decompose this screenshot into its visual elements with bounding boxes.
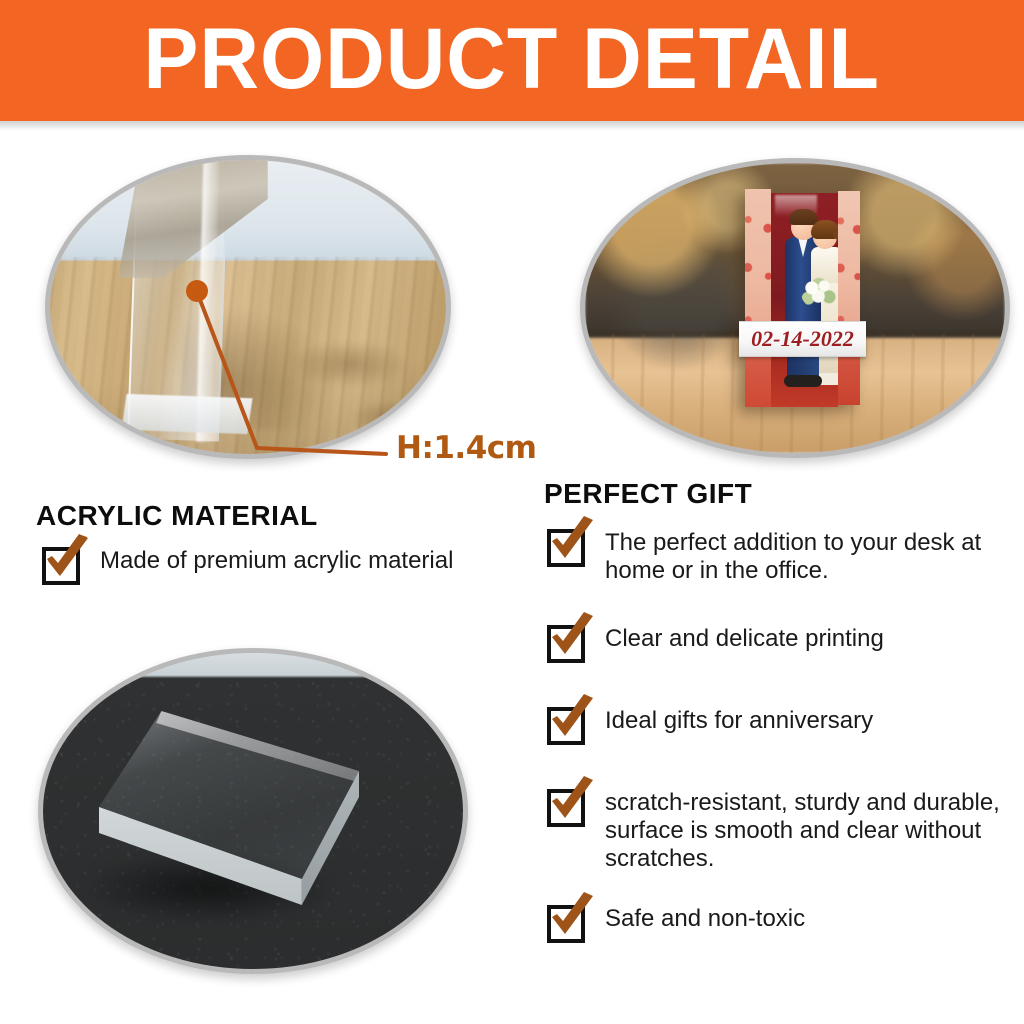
photo-acrylic-thickness-content xyxy=(50,160,446,454)
callout-dimension-label: H:1.4cm xyxy=(396,430,536,466)
groom-hair xyxy=(789,209,818,225)
check-mark-icon xyxy=(544,892,602,942)
checkbox-checked-icon xyxy=(42,547,80,585)
checkbox-checked-icon xyxy=(547,529,585,567)
check-mark-icon xyxy=(544,516,602,566)
photo-perfect-gift-content: 02-14-2022 xyxy=(585,163,1005,453)
list-item-label: Safe and non-toxic xyxy=(605,903,805,933)
callout-dot-icon xyxy=(186,280,208,302)
acrylic-block-base xyxy=(122,394,253,434)
gift-box-date-banner: 02-14-2022 xyxy=(739,321,866,357)
page-header-band: PRODUCT DETAIL xyxy=(0,0,1024,121)
list-item-label: Clear and delicate printing xyxy=(605,623,884,653)
photo-perfect-gift: 02-14-2022 xyxy=(580,158,1010,458)
header-drop-shadow xyxy=(0,121,1024,131)
photo-acrylic-thickness xyxy=(45,155,451,459)
gift-box: 02-14-2022 xyxy=(745,189,860,407)
gift-box-right-panel xyxy=(838,191,860,405)
heart-pattern-icon xyxy=(838,191,860,405)
list-item: The perfect addition to your desk at hom… xyxy=(547,527,1015,585)
checkbox-checked-icon xyxy=(547,707,585,745)
wedding-bouquet xyxy=(801,277,837,309)
section-heading-acrylic-material: ACRYLIC MATERIAL xyxy=(36,500,318,532)
list-item-label: Ideal gifts for anniversary xyxy=(605,705,873,735)
gift-box-date-text: 02-14-2022 xyxy=(751,326,854,352)
check-mark-icon xyxy=(544,612,602,662)
list-item-label: scratch-resistant, sturdy and durable, s… xyxy=(605,787,1015,872)
check-mark-icon xyxy=(39,534,97,584)
list-item: Clear and delicate printing xyxy=(547,623,884,663)
groom-shoes xyxy=(784,375,822,387)
list-item: scratch-resistant, sturdy and durable, s… xyxy=(547,787,1015,872)
checkbox-checked-icon xyxy=(547,905,585,943)
check-mark-icon xyxy=(544,694,602,744)
checkbox-checked-icon xyxy=(547,789,585,827)
photo-acrylic-block-content xyxy=(43,653,463,969)
page-title: PRODUCT DETAIL xyxy=(144,16,881,106)
gift-box-left-panel xyxy=(745,189,771,407)
check-mark-icon xyxy=(544,776,602,826)
gift-box-window xyxy=(771,193,838,407)
list-item: Ideal gifts for anniversary xyxy=(547,705,873,745)
list-item: Made of premium acrylic material xyxy=(42,545,453,585)
list-item-label: Made of premium acrylic material xyxy=(100,545,453,575)
acrylic-slab xyxy=(99,711,359,911)
section-heading-perfect-gift: PERFECT GIFT xyxy=(544,478,752,510)
photo-acrylic-block xyxy=(38,648,468,974)
list-item-label: The perfect addition to your desk at hom… xyxy=(605,527,1015,585)
list-item: Safe and non-toxic xyxy=(547,903,805,943)
checkbox-checked-icon xyxy=(547,625,585,663)
heart-pattern-icon xyxy=(745,189,771,407)
